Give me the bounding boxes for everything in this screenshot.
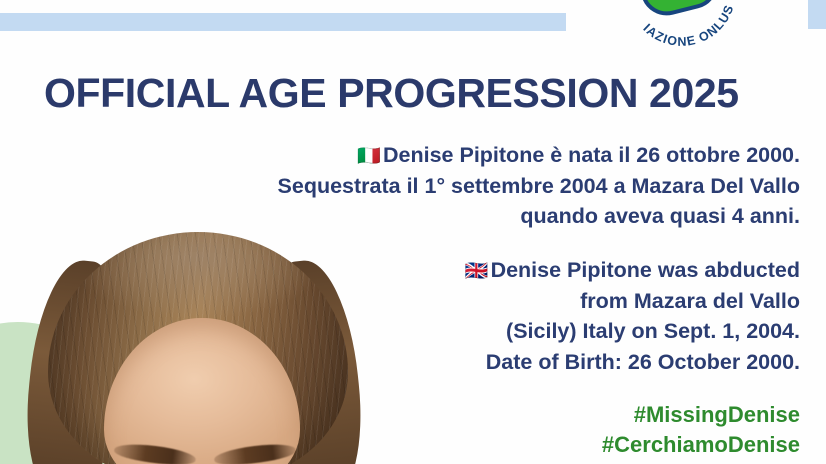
- logo-curved-text: IAZIONE ONLUS: [607, 0, 757, 67]
- italian-line-3: quando aveva quasi 4 anni.: [520, 204, 800, 228]
- poster-canvas: IAZIONE ONLUS OFFICIAL AGE PROGRESSION 2…: [0, 0, 826, 464]
- english-line-1: Denise Pipitone was abducted: [491, 258, 800, 282]
- italian-line-2: Sequestrata il 1° settembre 2004 a Mazar…: [278, 174, 800, 198]
- page-title: OFFICIAL AGE PROGRESSION 2025: [44, 72, 804, 115]
- italian-line-1: Denise Pipitone è nata il 26 ottobre 200…: [383, 143, 800, 167]
- english-description: 🇬🇧Denise Pipitone was abducted from Maza…: [240, 255, 800, 378]
- associazione-onlus-logo: IAZIONE ONLUS: [607, 0, 754, 53]
- italy-flag-icon: 🇮🇹: [357, 146, 381, 167]
- svg-text:IAZIONE ONLUS: IAZIONE ONLUS: [639, 0, 744, 59]
- english-line-3: (Sicily) Italy on Sept. 1, 2004.: [506, 319, 800, 343]
- italian-description: 🇮🇹Denise Pipitone è nata il 26 ottobre 2…: [140, 140, 800, 232]
- hashtag-cerchiamo-denise[interactable]: #CerchiamoDenise: [380, 430, 800, 460]
- english-line-2: from Mazara del Vallo: [580, 289, 800, 313]
- top-decorative-band: [0, 13, 566, 31]
- top-right-decorative-block: [808, 0, 826, 29]
- uk-flag-icon: 🇬🇧: [465, 261, 489, 282]
- english-line-4: Date of Birth: 26 October 2000.: [486, 350, 800, 374]
- hashtag-group: #MissingDenise #CerchiamoDenise: [380, 400, 800, 461]
- hashtag-missing-denise[interactable]: #MissingDenise: [380, 400, 800, 430]
